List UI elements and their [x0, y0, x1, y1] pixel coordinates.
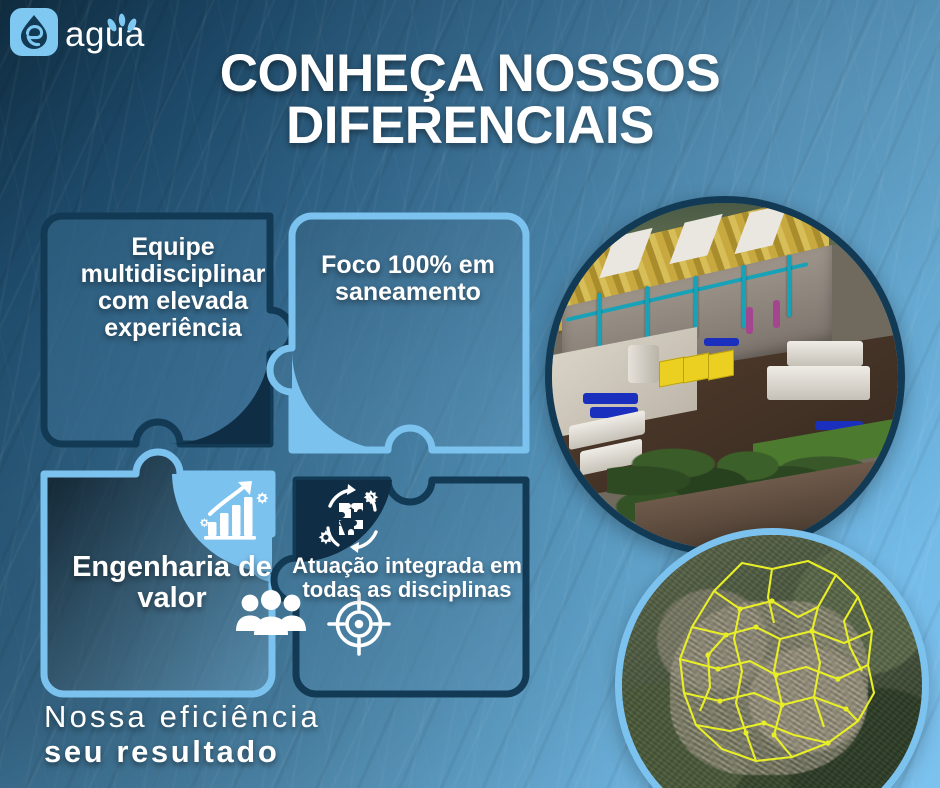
title-line-1: CONHEÇA NOSSOS: [220, 44, 721, 103]
poster-canvas: agua CONHEÇA NOSSOS DIFERENCIAIS: [0, 0, 940, 788]
network-lines: [622, 535, 922, 788]
tagline-line-1: Nossa eficiência: [44, 700, 321, 735]
satellite-water-network-map: [615, 528, 929, 788]
puzzle-label-equipe-multidisciplinar: Equipe multidisciplinar com elevada expe…: [58, 234, 288, 342]
tagline-line-2: seu resultado: [44, 735, 321, 770]
water-splash-icon: [103, 12, 143, 41]
title-line-2: DIFERENCIAIS: [150, 100, 790, 152]
brand-logo[interactable]: agua: [10, 8, 145, 56]
differentials-puzzle: Equipe multidisciplinar com elevada expe…: [40, 212, 530, 700]
water-droplet-icon: [10, 8, 58, 56]
puzzle-label-engenharia-de-valor: Engenharia de valor: [58, 552, 286, 615]
page-title: CONHEÇA NOSSOS DIFERENCIAIS: [150, 48, 790, 152]
puzzle-label-atuacao-integrada: Atuação integrada em todas as disciplina…: [290, 554, 524, 602]
puzzle-label-foco-saneamento: Foco 100% em saneamento: [292, 252, 524, 306]
water-treatment-plant-3d-render: [545, 196, 905, 556]
tagline: Nossa eficiência seu resultado: [44, 700, 321, 769]
